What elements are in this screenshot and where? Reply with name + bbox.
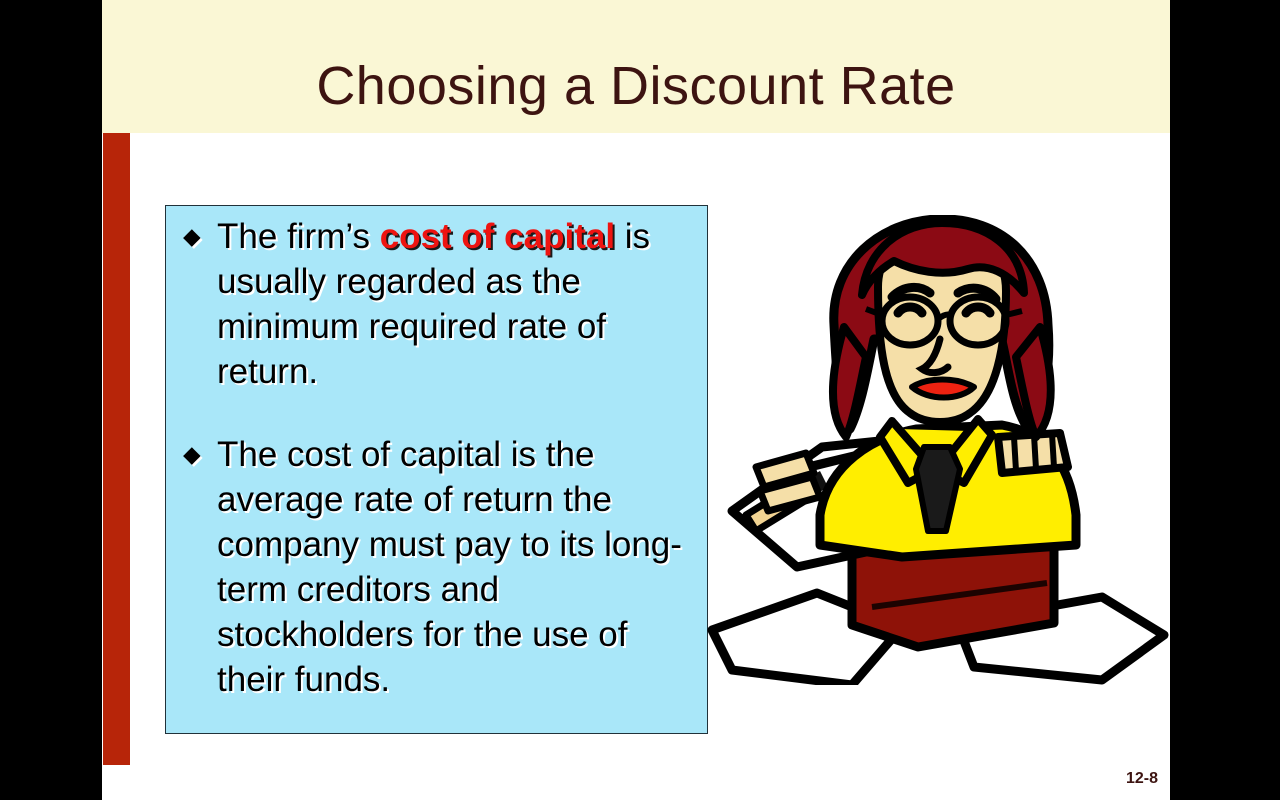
left-accent-bar: [103, 133, 130, 765]
bullet-1-highlight: cost of capital: [380, 217, 615, 256]
bullet-item-2: ◆ The cost of capital is the average rat…: [178, 432, 697, 702]
lips-icon: [912, 380, 974, 398]
page-title: Choosing a Discount Rate: [102, 56, 1170, 116]
slide-canvas: Choosing a Discount Rate ◆ The firm’s co…: [102, 0, 1170, 800]
slide-stage: Choosing a Discount Rate ◆ The firm’s co…: [0, 0, 1280, 800]
content-box: ◆ The firm’s cost of capital is usually …: [165, 205, 708, 734]
bullet-text-1: The firm’s cost of capital is usually re…: [217, 214, 697, 394]
diamond-bullet-icon: ◆: [178, 432, 217, 477]
diamond-bullet-icon: ◆: [178, 214, 217, 259]
bullet-text-2: The cost of capital is the average rate …: [217, 432, 697, 702]
woman-at-desk-illustration: [702, 215, 1170, 685]
bullet-item-1: ◆ The firm’s cost of capital is usually …: [178, 214, 697, 394]
title-band: Choosing a Discount Rate: [102, 0, 1170, 133]
slide-number: 12-8: [1126, 770, 1158, 788]
left-hand-icon: [756, 453, 820, 511]
bullet-1-segment-1: The firm’s: [217, 217, 380, 256]
